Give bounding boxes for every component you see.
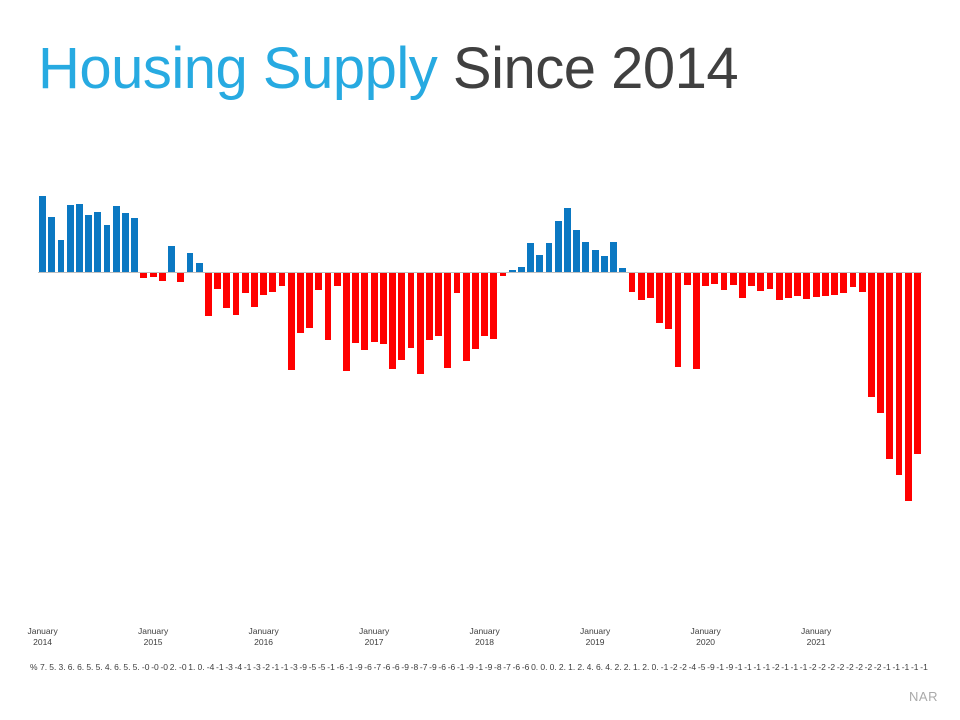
data-label-dec-2015: -3 (253, 660, 262, 674)
bar-may-2018 (518, 267, 525, 272)
data-label-sep-2014: 6. (114, 660, 123, 674)
data-label-dec-2017: -1 (475, 660, 484, 674)
data-label-jan-2020: -9 (707, 660, 716, 674)
data-label-mar-2015: 2. (170, 660, 179, 674)
data-label-aug-2018: 0. (550, 660, 559, 674)
data-label-feb-2014: 5. (49, 660, 58, 674)
bar-mar-2015 (168, 246, 175, 272)
bar-may-2017 (408, 273, 415, 348)
data-label-aug-2019: -1 (661, 660, 670, 674)
x-axis-tick-month: January (3, 626, 83, 637)
x-axis-tick-2021: January2021 (776, 626, 856, 648)
x-axis-tick-year: 2015 (113, 637, 193, 648)
page-title: Housing Supply Since 2014 (38, 34, 918, 104)
bar-jun-2020 (748, 273, 755, 286)
bar-may-2020 (739, 273, 746, 298)
data-label-sep-2017: -6 (448, 660, 457, 674)
bar-jul-2019 (647, 273, 654, 298)
bar-sep-2017 (444, 273, 451, 368)
x-axis-tick-year: 2020 (666, 637, 746, 648)
data-label-feb-2018: -8 (494, 660, 503, 674)
bar-aug-2021 (877, 273, 884, 413)
data-label-nov-2017: -9 (466, 660, 475, 674)
x-axis-year-labels: January2014January2015January2016January… (0, 626, 960, 656)
bar-sep-2020 (776, 273, 783, 300)
data-label-sep-2015: -3 (225, 660, 234, 674)
data-label-nov-2020: -1 (800, 660, 809, 674)
bar-aug-2016 (325, 273, 332, 340)
data-label-may-2015: 1. (188, 660, 197, 674)
x-axis-tick-year: 2014 (3, 637, 83, 648)
bar-oct-2019 (675, 273, 682, 367)
bar-dec-2017 (472, 273, 479, 349)
bar-feb-2015 (159, 273, 166, 281)
data-label-aug-2020: -2 (772, 660, 781, 674)
data-label-jun-2020: -1 (753, 660, 762, 674)
bar-nov-2016 (352, 273, 359, 343)
data-label-sep-2019: -2 (670, 660, 679, 674)
data-label-sep-2016: -6 (337, 660, 346, 674)
data-label-jun-2018: 0. (531, 660, 540, 674)
bar-oct-2017 (454, 273, 461, 293)
data-label-jun-2016: -5 (309, 660, 318, 674)
bar-jan-2018 (481, 273, 488, 336)
bar-chart-plot-area (38, 196, 922, 576)
bar-mar-2014 (58, 240, 65, 272)
x-axis-tick-year: 2018 (445, 637, 525, 648)
data-label-jul-2018: 0. (540, 660, 549, 674)
data-label-oct-2016: -1 (346, 660, 355, 674)
data-label-may-2020: -1 (744, 660, 753, 674)
data-label-jan-2021: -2 (818, 660, 827, 674)
bar-aug-2020 (767, 273, 774, 289)
data-label-jun-2014: 5. (86, 660, 95, 674)
data-label-mar-2020: -9 (726, 660, 735, 674)
data-label-may-2018: -6 (522, 660, 531, 674)
x-axis-tick-2014: January2014 (3, 626, 83, 648)
x-axis-tick-2020: January2020 (666, 626, 746, 648)
data-label-jan-2015: -0 (151, 660, 160, 674)
data-label-jun-2015: 0. (198, 660, 207, 674)
data-label-apr-2015: -0 (179, 660, 188, 674)
data-label-aug-2016: -1 (327, 660, 336, 674)
x-axis-tick-year: 2016 (224, 637, 304, 648)
bar-feb-2014 (48, 217, 55, 272)
data-label-dec-2020: -2 (809, 660, 818, 674)
bar-jul-2021 (868, 273, 875, 397)
bar-oct-2014 (122, 213, 129, 272)
bar-jul-2014 (94, 212, 101, 272)
bar-sep-2021 (886, 273, 893, 459)
bar-feb-2017 (380, 273, 387, 344)
x-axis-tick-year: 2021 (776, 637, 856, 648)
data-label-feb-2021: -2 (828, 660, 837, 674)
data-label-nov-2018: 2. (577, 660, 586, 674)
data-label-oct-2021: -1 (902, 660, 911, 674)
bar-mar-2018 (500, 273, 507, 276)
data-label-jul-2014: 5. (96, 660, 105, 674)
data-label-nov-2021: -1 (911, 660, 920, 674)
bar-dec-2018 (582, 242, 589, 272)
x-axis-tick-year: 2017 (334, 637, 414, 648)
data-label-mar-2014: 3. (59, 660, 68, 674)
nar-logo: NAR (909, 689, 938, 704)
bar-jun-2016 (306, 273, 313, 328)
bar-jul-2016 (315, 273, 322, 290)
x-axis-tick-month: January (113, 626, 193, 637)
bar-sep-2014 (113, 206, 120, 272)
data-label-dec-2018: 4. (587, 660, 596, 674)
bar-jan-2019 (592, 250, 599, 272)
bar-feb-2020 (711, 273, 718, 284)
x-axis-tick-month: January (555, 626, 635, 637)
data-label-mar-2018: -7 (503, 660, 512, 674)
bar-feb-2016 (269, 273, 276, 292)
data-label-sep-2021: -1 (892, 660, 901, 674)
bar-may-2014 (76, 204, 83, 272)
data-label-may-2021: -2 (855, 660, 864, 674)
bar-aug-2019 (656, 273, 663, 323)
bar-jun-2021 (859, 273, 866, 292)
data-label-nov-2019: -4 (689, 660, 698, 674)
data-label-feb-2017: -6 (383, 660, 392, 674)
bar-oct-2016 (343, 273, 350, 371)
data-label-dec-2019: -5 (698, 660, 707, 674)
bar-nov-2017 (463, 273, 470, 361)
bar-jan-2021 (813, 273, 820, 297)
data-label-mar-2019: 2. (614, 660, 623, 674)
x-axis-tick-2019: January2019 (555, 626, 635, 648)
bar-jun-2018 (527, 243, 534, 272)
bar-jun-2019 (638, 273, 645, 300)
data-label-jan-2017: -7 (374, 660, 383, 674)
data-label-feb-2019: 4. (605, 660, 614, 674)
data-label-oct-2017: -1 (457, 660, 466, 674)
bar-nov-2021 (905, 273, 912, 501)
bar-dec-2019 (693, 273, 700, 369)
bar-nov-2020 (794, 273, 801, 296)
data-label-apr-2018: -6 (513, 660, 522, 674)
bar-dec-2016 (361, 273, 368, 350)
bar-apr-2019 (619, 268, 626, 272)
bar-may-2021 (850, 273, 857, 287)
bar-sep-2016 (334, 273, 341, 286)
bar-mar-2017 (389, 273, 396, 369)
x-axis-tick-month: January (666, 626, 746, 637)
data-label-oct-2014: 5. (123, 660, 132, 674)
data-label-jan-2016: -2 (262, 660, 271, 674)
data-label-apr-2017: -9 (401, 660, 410, 674)
bar-mar-2020 (721, 273, 728, 290)
bar-sep-2018 (555, 221, 562, 272)
data-label-strip: %7.5.3.6.6.5.5.4.6.5.5.-0-0-02.-01.0.-4-… (30, 660, 955, 676)
bar-aug-2015 (214, 273, 221, 289)
data-label-sep-2018: 2. (559, 660, 568, 674)
bar-nov-2014 (131, 218, 138, 272)
bar-jan-2020 (702, 273, 709, 286)
x-axis-tick-month: January (224, 626, 304, 637)
data-label-may-2016: -9 (299, 660, 308, 674)
data-label-apr-2016: -3 (290, 660, 299, 674)
data-label-dec-2014: -0 (142, 660, 151, 674)
data-label-jan-2018: -9 (485, 660, 494, 674)
data-label-nov-2014: 5. (133, 660, 142, 674)
bar-feb-2019 (601, 256, 608, 272)
bar-jan-2014 (39, 196, 46, 272)
bar-mar-2016 (279, 273, 286, 286)
data-label-aug-2014: 4. (105, 660, 114, 674)
data-label-dec-2021: -1 (920, 660, 929, 674)
bar-oct-2018 (564, 208, 571, 272)
bar-aug-2018 (546, 243, 553, 272)
data-label-jul-2015: -4 (207, 660, 216, 674)
bar-feb-2021 (822, 273, 829, 296)
data-label-apr-2021: -2 (846, 660, 855, 674)
x-axis-tick-2016: January2016 (224, 626, 304, 648)
data-label-apr-2019: 2. (624, 660, 633, 674)
data-label-oct-2018: 1. (568, 660, 577, 674)
bar-may-2015 (187, 253, 194, 272)
percent-unit-label: % (30, 660, 40, 674)
data-label-jan-2014: 7. (40, 660, 49, 674)
bar-oct-2020 (785, 273, 792, 298)
data-label-oct-2020: -1 (791, 660, 800, 674)
bar-jul-2015 (205, 273, 212, 316)
bar-mar-2021 (831, 273, 838, 295)
bar-jul-2017 (426, 273, 433, 340)
bar-dec-2014 (140, 273, 147, 278)
data-label-mar-2016: -1 (281, 660, 290, 674)
bar-apr-2016 (288, 273, 295, 370)
title-rest-text: Since 2014 (437, 36, 738, 101)
bar-aug-2017 (435, 273, 442, 336)
bar-dec-2015 (251, 273, 258, 307)
bar-jun-2014 (85, 215, 92, 272)
bar-may-2016 (297, 273, 304, 333)
data-label-aug-2015: -1 (216, 660, 225, 674)
bar-jan-2015 (150, 273, 157, 277)
data-label-nov-2015: -1 (244, 660, 253, 674)
data-label-dec-2016: -6 (364, 660, 373, 674)
data-label-jun-2021: -2 (865, 660, 874, 674)
bar-oct-2015 (233, 273, 240, 315)
bar-jul-2020 (757, 273, 764, 291)
bar-sep-2019 (665, 273, 672, 329)
data-label-mar-2021: -2 (837, 660, 846, 674)
bar-apr-2015 (177, 273, 184, 282)
data-label-aug-2021: -1 (883, 660, 892, 674)
data-label-feb-2015: -0 (160, 660, 169, 674)
bar-dec-2020 (803, 273, 810, 299)
bar-sep-2015 (223, 273, 230, 308)
x-axis-tick-2017: January2017 (334, 626, 414, 648)
data-label-aug-2017: -6 (438, 660, 447, 674)
data-label-may-2014: 6. (77, 660, 86, 674)
bar-nov-2015 (242, 273, 249, 293)
bar-aug-2014 (104, 225, 111, 272)
bar-feb-2018 (490, 273, 497, 339)
data-label-may-2017: -8 (411, 660, 420, 674)
data-label-oct-2015: -4 (235, 660, 244, 674)
bar-jan-2016 (260, 273, 267, 295)
x-axis-tick-year: 2019 (555, 637, 635, 648)
bar-mar-2019 (610, 242, 617, 272)
bar-apr-2017 (398, 273, 405, 360)
data-label-apr-2020: -1 (735, 660, 744, 674)
bar-jul-2018 (536, 255, 543, 272)
data-label-jul-2017: -9 (429, 660, 438, 674)
x-axis-tick-month: January (776, 626, 856, 637)
bar-jan-2017 (371, 273, 378, 342)
data-label-feb-2016: -1 (272, 660, 281, 674)
data-label-feb-2020: -1 (716, 660, 725, 674)
x-axis-tick-month: January (445, 626, 525, 637)
data-label-jun-2019: 2. (642, 660, 651, 674)
data-label-apr-2014: 6. (68, 660, 77, 674)
bar-jun-2015 (196, 263, 203, 272)
data-label-mar-2017: -6 (392, 660, 401, 674)
data-label-jul-2020: -1 (763, 660, 772, 674)
x-axis-tick-month: January (334, 626, 414, 637)
data-label-nov-2016: -9 (355, 660, 364, 674)
bar-dec-2021 (914, 273, 921, 454)
bar-apr-2014 (67, 205, 74, 272)
data-label-jul-2019: 0. (652, 660, 661, 674)
x-axis-tick-2015: January2015 (113, 626, 193, 648)
bar-apr-2018 (509, 270, 516, 272)
bar-may-2019 (629, 273, 636, 292)
data-label-may-2019: 1. (633, 660, 642, 674)
data-label-jun-2017: -7 (420, 660, 429, 674)
bar-oct-2021 (896, 273, 903, 475)
data-label-jan-2019: 6. (596, 660, 605, 674)
bar-jun-2017 (417, 273, 424, 374)
bar-apr-2021 (840, 273, 847, 293)
bar-nov-2019 (684, 273, 691, 285)
data-label-jul-2021: -2 (874, 660, 883, 674)
data-label-oct-2019: -2 (679, 660, 688, 674)
bar-nov-2018 (573, 230, 580, 272)
x-axis-tick-2018: January2018 (445, 626, 525, 648)
data-label-jul-2016: -5 (318, 660, 327, 674)
title-accent-text: Housing Supply (38, 36, 437, 101)
data-label-sep-2020: -1 (781, 660, 790, 674)
bar-apr-2020 (730, 273, 737, 285)
